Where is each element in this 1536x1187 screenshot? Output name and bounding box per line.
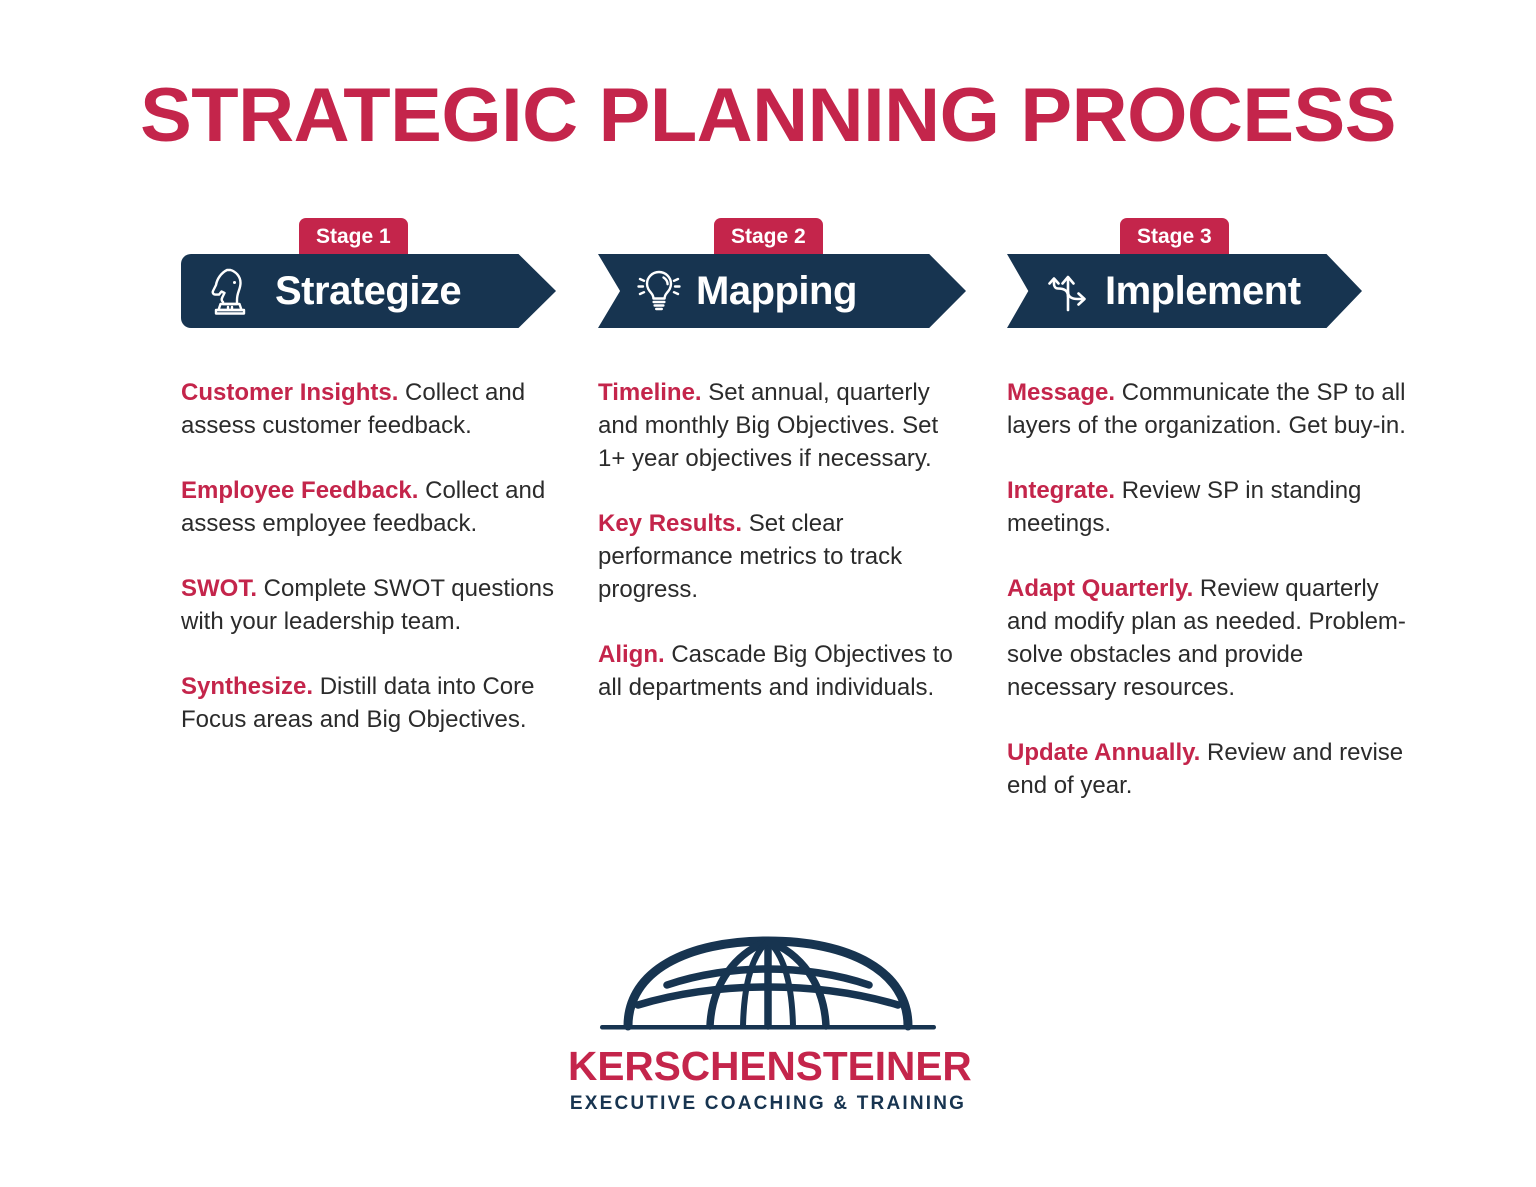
list-item: Integrate. Review SP in standing meeting… — [1007, 474, 1407, 540]
stages-container: Stage 1 Strategize Customer Insights. Co… — [0, 218, 1536, 868]
item-lead: Timeline. — [598, 379, 702, 406]
list-item: Align. Cascade Big Objectives to all dep… — [598, 638, 963, 704]
stage-banner-label-3: Implement — [1105, 269, 1301, 314]
list-item: Adapt Quarterly. Review quarterly and mo… — [1007, 572, 1407, 704]
logo: KERSCHENSTEINER EXECUTIVE COACHING & TRA… — [566, 925, 970, 1113]
stage-badge-3: Stage 3 — [1120, 218, 1229, 257]
stage-badge-1: Stage 1 — [299, 218, 408, 257]
list-item: Timeline. Set annual, quarterly and mont… — [598, 376, 963, 475]
list-item: SWOT. Complete SWOT questions with your … — [181, 572, 556, 638]
item-lead: Employee Feedback. — [181, 477, 418, 504]
item-lead: Message. — [1007, 379, 1115, 406]
logo-name: KERSCHENSTEINER — [568, 1046, 968, 1087]
stage-banner-1[interactable]: Strategize — [181, 254, 556, 328]
page-title: STRATEGIC PLANNING PROCESS — [0, 78, 1536, 154]
item-lead: Customer Insights. — [181, 379, 398, 406]
branching-arrows-icon — [1041, 264, 1095, 318]
item-lead: SWOT. — [181, 575, 257, 602]
list-item: Update Annually. Review and revise end o… — [1007, 736, 1407, 802]
stage-banner-2[interactable]: Mapping — [598, 254, 966, 328]
stage-items-2: Timeline. Set annual, quarterly and mont… — [598, 352, 963, 736]
logo-tagline: EXECUTIVE COACHING & TRAINING — [566, 1094, 970, 1113]
stage-items-3: Message. Communicate the SP to all layer… — [1007, 352, 1407, 834]
item-lead: Synthesize. — [181, 673, 313, 700]
item-lead: Align. — [598, 641, 665, 668]
stage-banner-label-2: Mapping — [696, 269, 857, 314]
stage-items-1: Customer Insights. Collect and assess cu… — [181, 352, 556, 768]
stage-banner-label-1: Strategize — [275, 269, 461, 314]
item-lead: Update Annually. — [1007, 739, 1200, 766]
chess-knight-icon — [203, 264, 257, 318]
list-item: Message. Communicate the SP to all layer… — [1007, 376, 1407, 442]
stage-badge-2: Stage 2 — [714, 218, 823, 257]
list-item: Key Results. Set clear performance metri… — [598, 507, 963, 606]
item-lead: Adapt Quarterly. — [1007, 575, 1193, 602]
item-lead: Integrate. — [1007, 477, 1115, 504]
lightbulb-icon — [632, 264, 686, 318]
list-item: Synthesize. Distill data into Core Focus… — [181, 670, 556, 736]
stage-banner-3[interactable]: Implement — [1007, 254, 1362, 328]
globe-dome-icon — [566, 925, 970, 1042]
list-item: Customer Insights. Collect and assess cu… — [181, 376, 556, 442]
list-item: Employee Feedback. Collect and assess em… — [181, 474, 556, 540]
item-lead: Key Results. — [598, 510, 742, 537]
